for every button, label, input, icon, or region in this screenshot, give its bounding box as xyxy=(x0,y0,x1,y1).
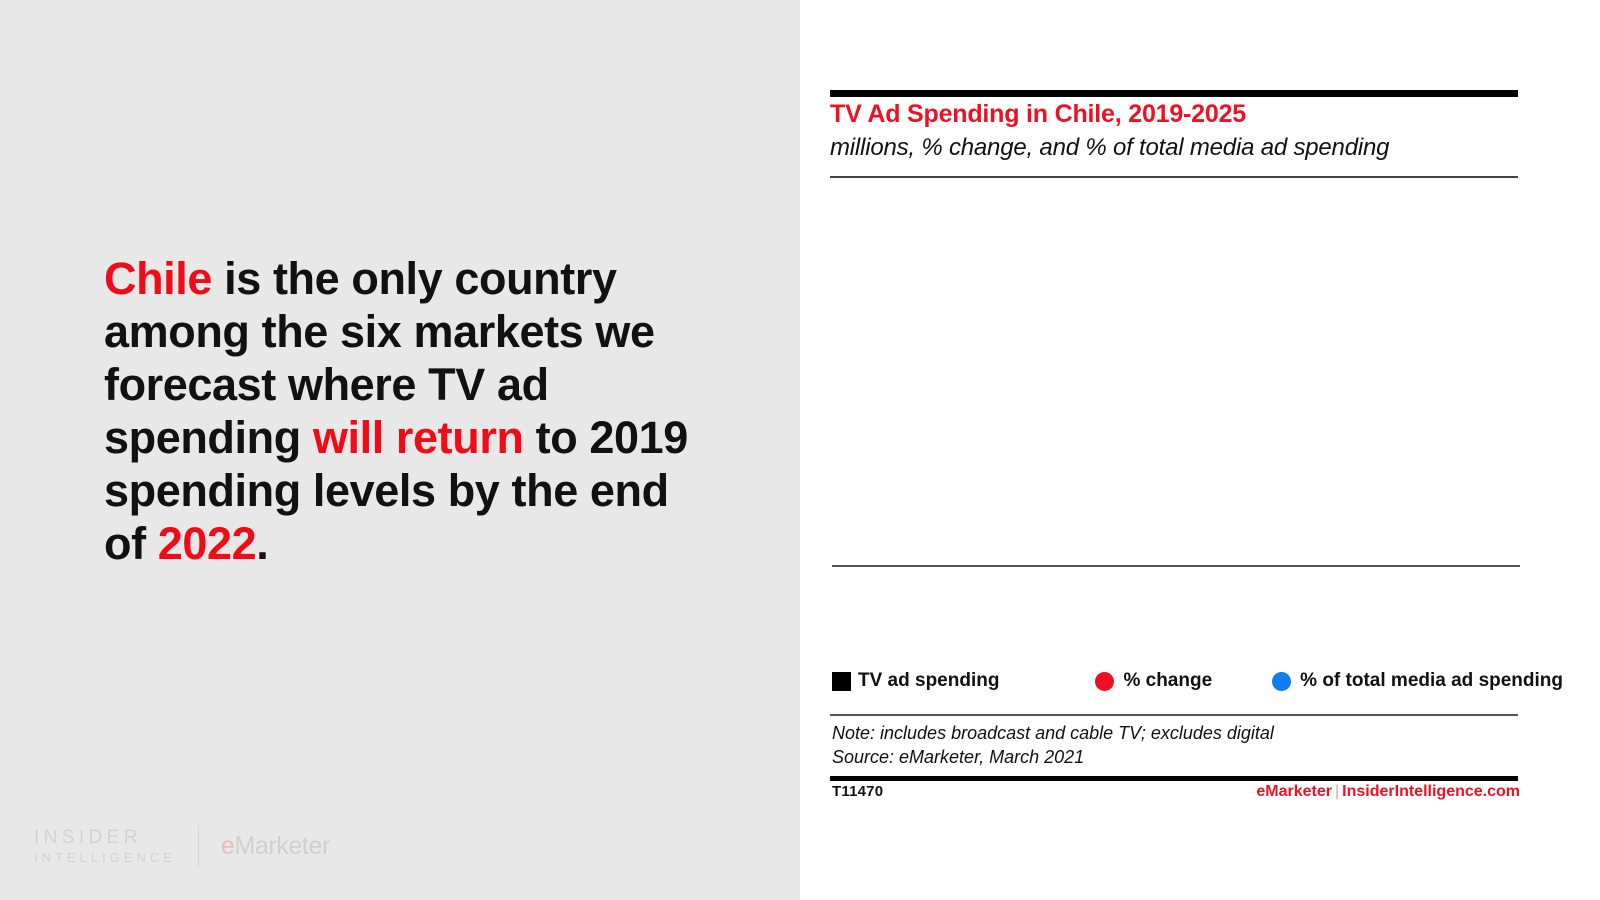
footer-rule xyxy=(830,776,1518,781)
note-line-1: Source: eMarketer, March 2021 xyxy=(832,746,1522,770)
headline-segment-4: 2022 xyxy=(158,518,257,569)
legend-swatch-dot-icon xyxy=(1272,672,1291,691)
left-callout-panel: Chile is the only country among the six … xyxy=(0,0,800,900)
headline-segment-0: Chile xyxy=(104,253,212,304)
note-top-rule xyxy=(830,714,1518,716)
emarketer-logo: eMarketer xyxy=(221,832,330,861)
insider-intelligence-logo: INSIDER INTELLIGENCE xyxy=(34,826,176,866)
note-line-0: Note: includes broadcast and cable TV; e… xyxy=(832,722,1522,746)
legend-item-0[interactable]: TV ad spending xyxy=(832,670,999,692)
logo-divider xyxy=(198,825,199,867)
headline-segment-5: . xyxy=(256,518,268,569)
legend-item-2[interactable]: % of total media ad spending xyxy=(1272,670,1563,692)
emarketer-logo-e: e xyxy=(221,832,235,860)
legend-label-0: TV ad spending xyxy=(858,670,999,692)
chart-notes: Note: includes broadcast and cable TV; e… xyxy=(832,722,1522,770)
emarketer-logo-rest: Marketer xyxy=(234,832,329,860)
chart-legend: TV ad spending% change% of total media a… xyxy=(832,670,1522,692)
slide-root: Chile is the only country among the six … xyxy=(0,0,1600,900)
legend-swatch-dot-icon xyxy=(1095,672,1114,691)
legend-label-2: % of total media ad spending xyxy=(1300,670,1563,692)
footer-brand-site: InsiderIntelligence.com xyxy=(1342,783,1520,800)
legend-item-1[interactable]: % change xyxy=(1095,670,1212,692)
footer-brand: eMarketer|InsiderIntelligence.com xyxy=(1256,783,1520,801)
legend-label-1: % change xyxy=(1123,670,1212,692)
headline-text: Chile is the only country among the six … xyxy=(104,252,704,571)
brand-logo-lockup: INSIDER INTELLIGENCE eMarketer xyxy=(34,822,330,870)
legend-swatch-square-icon xyxy=(832,672,851,691)
insider-logo-line1: INSIDER xyxy=(34,826,176,850)
chart-id-code: T11470 xyxy=(832,783,883,800)
headline-segment-2: will return xyxy=(313,412,524,463)
insider-logo-line2: INTELLIGENCE xyxy=(34,850,176,866)
footer-brand-separator: | xyxy=(1332,783,1342,800)
footer-brand-emarketer: eMarketer xyxy=(1256,783,1332,800)
chart-panel: TV Ad Spending in Chile, 2019-2025 milli… xyxy=(800,0,1600,900)
chart-footer: T11470 eMarketer|InsiderIntelligence.com xyxy=(832,783,1520,801)
